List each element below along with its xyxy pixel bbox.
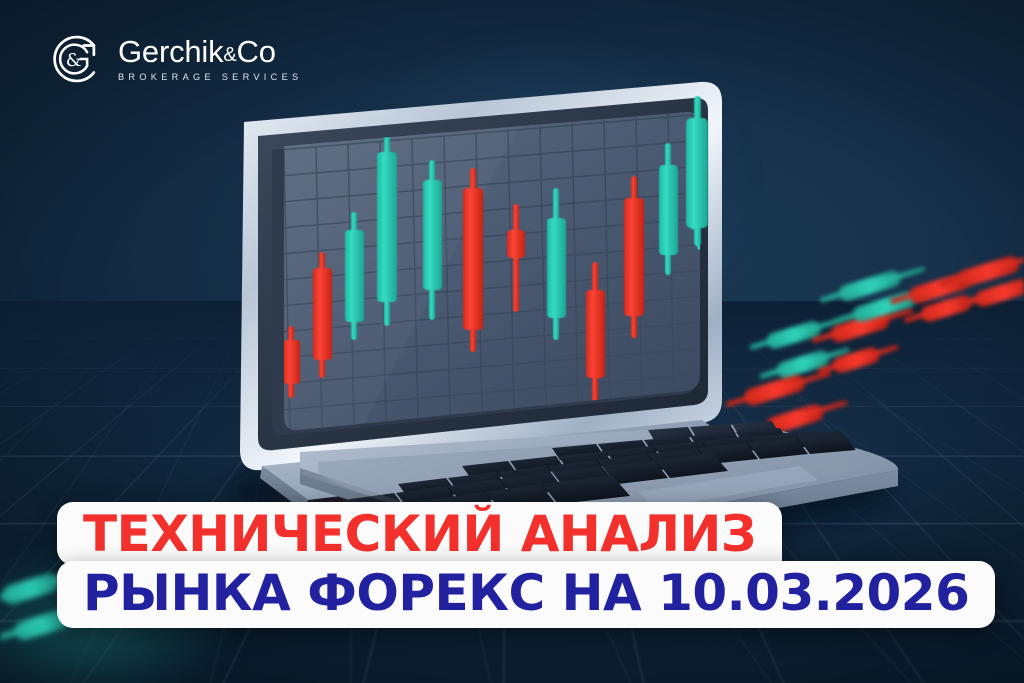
logo-word-part1: Gerchik	[118, 34, 223, 69]
title-banner: ТЕХНИЧЕСКИЙ АНАЛИЗ РЫНКА ФОРЕКС НА 10.03…	[57, 502, 995, 628]
logo-ampersand: &	[223, 44, 236, 66]
candle-2	[313, 252, 332, 378]
candle-7	[507, 204, 525, 312]
logo-wordmark: Gerchik&Co	[118, 36, 302, 68]
title-band-line2: РЫНКА ФОРЕКС НА 10.03.2026	[57, 561, 995, 628]
candle-5	[423, 160, 442, 320]
candlestick-series	[283, 104, 710, 402]
candle-11	[659, 143, 678, 275]
candle-1	[283, 326, 300, 398]
brand-logo[interactable]: & Gerchik&Co BROKERAGE SERVICES	[50, 32, 302, 86]
laptop-bezel-inner	[272, 113, 696, 435]
logo-tagline: BROKERAGE SERVICES	[118, 72, 302, 82]
screen-grid	[284, 111, 706, 432]
candle-6	[463, 168, 483, 352]
logo-word-part2: Co	[237, 34, 276, 69]
candle-9	[586, 262, 605, 402]
svg-text:&: &	[66, 51, 82, 71]
floor-fade	[0, 301, 1024, 465]
title-line2: РЫНКА ФОРЕКС НА 10.03.2026	[83, 564, 969, 622]
candle-12	[690, 104, 710, 250]
laptop-hinge-deck	[262, 420, 742, 500]
title-line1: ТЕХНИЧЕСКИЙ АНАЛИЗ	[83, 505, 756, 563]
candle-3	[345, 212, 364, 340]
circle-g-ampersand-icon: &	[50, 32, 104, 86]
candle-8	[547, 188, 566, 340]
candle-4	[377, 130, 397, 326]
screen-glow	[330, 40, 750, 340]
laptop-screen	[280, 104, 710, 436]
banner-stage: & Gerchik&Co BROKERAGE SERVICES ТЕХНИЧЕС…	[0, 0, 1024, 683]
candle-10	[624, 176, 644, 338]
title-band-line1: ТЕХНИЧЕСКИЙ АНАЛИЗ	[57, 502, 782, 565]
candle-12-overflow	[686, 96, 708, 246]
laptop-lid-shell	[240, 82, 722, 470]
laptop-bezel-outer	[258, 98, 708, 450]
